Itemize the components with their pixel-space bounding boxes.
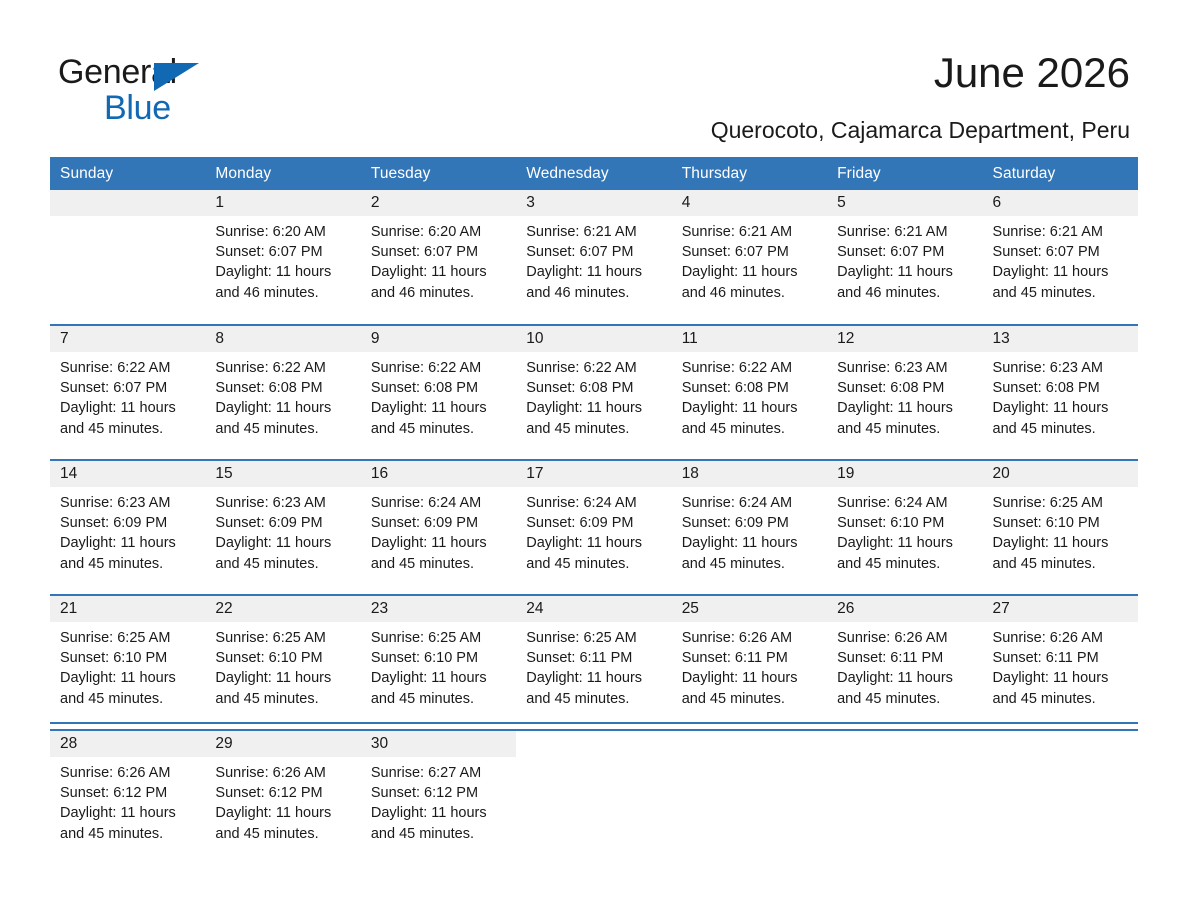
sunrise-text: Sunrise: 6:23 AM [837,358,974,378]
day-details: Sunrise: 6:24 AMSunset: 6:09 PMDaylight:… [672,487,827,574]
calendar-day-cell[interactable]: 13Sunrise: 6:23 AMSunset: 6:08 PMDayligh… [983,326,1138,459]
daylight-text: Daylight: 11 hours and 45 minutes. [371,533,508,573]
daylight-text: Daylight: 11 hours and 45 minutes. [993,398,1130,438]
sunset-text: Sunset: 6:08 PM [526,378,663,398]
day-number: 11 [672,326,827,352]
calendar-day-cell[interactable]: 21Sunrise: 6:25 AMSunset: 6:10 PMDayligh… [50,596,205,729]
daylight-text: Daylight: 11 hours and 45 minutes. [60,533,197,573]
sunrise-text: Sunrise: 6:22 AM [60,358,197,378]
sunrise-text: Sunrise: 6:21 AM [682,222,819,242]
logo-text-blue: Blue [104,88,171,128]
sunset-text: Sunset: 6:11 PM [837,648,974,668]
daylight-text: Daylight: 11 hours and 46 minutes. [837,262,974,302]
sunrise-text: Sunrise: 6:26 AM [682,628,819,648]
calendar-page: General Blue June 2026 Querocoto, Cajama… [0,0,1188,918]
day-details: Sunrise: 6:27 AMSunset: 6:12 PMDaylight:… [361,757,516,844]
daylight-text: Daylight: 11 hours and 45 minutes. [371,668,508,708]
daylight-text: Daylight: 11 hours and 45 minutes. [993,533,1130,573]
day-details: Sunrise: 6:26 AMSunset: 6:12 PMDaylight:… [205,757,360,844]
calendar-bottom-rule [50,722,1138,724]
sunset-text: Sunset: 6:07 PM [682,242,819,262]
day-details: Sunrise: 6:25 AMSunset: 6:10 PMDaylight:… [361,622,516,709]
daylight-text: Daylight: 11 hours and 45 minutes. [215,668,352,708]
calendar-day-cell[interactable]: 15Sunrise: 6:23 AMSunset: 6:09 PMDayligh… [205,461,360,594]
page-title: June 2026 [934,48,1130,98]
day-number: 26 [827,596,982,622]
sunset-text: Sunset: 6:08 PM [371,378,508,398]
day-details: Sunrise: 6:23 AMSunset: 6:09 PMDaylight:… [50,487,205,574]
daylight-text: Daylight: 11 hours and 46 minutes. [526,262,663,302]
sunrise-text: Sunrise: 6:25 AM [371,628,508,648]
calendar-day-cell[interactable]: 3Sunrise: 6:21 AMSunset: 6:07 PMDaylight… [516,190,671,324]
daylight-text: Daylight: 11 hours and 45 minutes. [215,398,352,438]
sunset-text: Sunset: 6:09 PM [60,513,197,533]
daylight-text: Daylight: 11 hours and 45 minutes. [993,262,1130,302]
calendar-day-cell-empty [827,731,982,865]
sunrise-text: Sunrise: 6:22 AM [371,358,508,378]
calendar-day-cell[interactable]: 8Sunrise: 6:22 AMSunset: 6:08 PMDaylight… [205,326,360,459]
sunrise-text: Sunrise: 6:20 AM [215,222,352,242]
day-number: 13 [983,326,1138,352]
sunset-text: Sunset: 6:10 PM [993,513,1130,533]
sunset-text: Sunset: 6:12 PM [215,783,352,803]
sunset-text: Sunset: 6:11 PM [682,648,819,668]
sunrise-text: Sunrise: 6:21 AM [993,222,1130,242]
daylight-text: Daylight: 11 hours and 46 minutes. [682,262,819,302]
day-number [672,731,827,757]
day-details: Sunrise: 6:24 AMSunset: 6:09 PMDaylight:… [516,487,671,574]
sunrise-text: Sunrise: 6:26 AM [60,763,197,783]
sunset-text: Sunset: 6:08 PM [682,378,819,398]
day-number: 2 [361,190,516,216]
sunset-text: Sunset: 6:12 PM [60,783,197,803]
sunset-text: Sunset: 6:12 PM [371,783,508,803]
day-number: 14 [50,461,205,487]
sunrise-text: Sunrise: 6:24 AM [371,493,508,513]
daylight-text: Daylight: 11 hours and 45 minutes. [60,803,197,843]
weekday-header-friday: Friday [827,157,982,190]
day-details: Sunrise: 6:20 AMSunset: 6:07 PMDaylight:… [205,216,360,303]
day-details: Sunrise: 6:21 AMSunset: 6:07 PMDaylight:… [516,216,671,303]
calendar-day-cell[interactable]: 20Sunrise: 6:25 AMSunset: 6:10 PMDayligh… [983,461,1138,594]
sunrise-text: Sunrise: 6:25 AM [526,628,663,648]
sunrise-text: Sunrise: 6:24 AM [837,493,974,513]
day-details: Sunrise: 6:25 AMSunset: 6:10 PMDaylight:… [983,487,1138,574]
sunrise-text: Sunrise: 6:25 AM [215,628,352,648]
day-number [50,190,205,216]
day-number: 1 [205,190,360,216]
daylight-text: Daylight: 11 hours and 45 minutes. [682,533,819,573]
sunset-text: Sunset: 6:07 PM [215,242,352,262]
calendar-day-cell-empty [50,190,205,324]
weekday-header-tuesday: Tuesday [361,157,516,190]
day-number: 24 [516,596,671,622]
sunrise-text: Sunrise: 6:23 AM [215,493,352,513]
day-number: 28 [50,731,205,757]
day-details: Sunrise: 6:26 AMSunset: 6:11 PMDaylight:… [983,622,1138,709]
calendar-body: 1Sunrise: 6:20 AMSunset: 6:07 PMDaylight… [50,190,1138,865]
calendar-day-cell[interactable]: 27Sunrise: 6:26 AMSunset: 6:11 PMDayligh… [983,596,1138,729]
daylight-text: Daylight: 11 hours and 45 minutes. [993,668,1130,708]
location-subtitle: Querocoto, Cajamarca Department, Peru [711,116,1130,144]
sunrise-text: Sunrise: 6:23 AM [60,493,197,513]
sunset-text: Sunset: 6:10 PM [60,648,197,668]
day-details: Sunrise: 6:22 AMSunset: 6:08 PMDaylight:… [672,352,827,439]
day-number: 16 [361,461,516,487]
sunset-text: Sunset: 6:07 PM [60,378,197,398]
day-details: Sunrise: 6:26 AMSunset: 6:11 PMDaylight:… [827,622,982,709]
sunrise-text: Sunrise: 6:24 AM [526,493,663,513]
calendar-week-row: 28Sunrise: 6:26 AMSunset: 6:12 PMDayligh… [50,730,1138,865]
daylight-text: Daylight: 11 hours and 45 minutes. [60,398,197,438]
daylight-text: Daylight: 11 hours and 45 minutes. [837,398,974,438]
day-number [516,731,671,757]
calendar-day-cell-empty [983,731,1138,865]
day-number: 8 [205,326,360,352]
sunrise-text: Sunrise: 6:20 AM [371,222,508,242]
daylight-text: Daylight: 11 hours and 45 minutes. [215,803,352,843]
daylight-text: Daylight: 11 hours and 46 minutes. [215,262,352,302]
sunrise-text: Sunrise: 6:23 AM [993,358,1130,378]
day-details: Sunrise: 6:21 AMSunset: 6:07 PMDaylight:… [983,216,1138,303]
day-details: Sunrise: 6:25 AMSunset: 6:10 PMDaylight:… [205,622,360,709]
sunrise-text: Sunrise: 6:25 AM [60,628,197,648]
calendar-day-cell[interactable]: 6Sunrise: 6:21 AMSunset: 6:07 PMDaylight… [983,190,1138,324]
calendar-day-cell[interactable]: 7Sunrise: 6:22 AMSunset: 6:07 PMDaylight… [50,326,205,459]
sunset-text: Sunset: 6:09 PM [215,513,352,533]
calendar-day-cell[interactable]: 14Sunrise: 6:23 AMSunset: 6:09 PMDayligh… [50,461,205,594]
calendar-day-cell[interactable]: 18Sunrise: 6:24 AMSunset: 6:09 PMDayligh… [672,461,827,594]
day-details: Sunrise: 6:20 AMSunset: 6:07 PMDaylight:… [361,216,516,303]
sunset-text: Sunset: 6:09 PM [526,513,663,533]
weekday-header-monday: Monday [205,157,360,190]
sunset-text: Sunset: 6:07 PM [993,242,1130,262]
daylight-text: Daylight: 11 hours and 45 minutes. [371,803,508,843]
page-header: General Blue June 2026 Querocoto, Cajama… [0,0,1188,152]
sunset-text: Sunset: 6:08 PM [837,378,974,398]
daylight-text: Daylight: 11 hours and 45 minutes. [371,398,508,438]
calendar-day-cell[interactable]: 30Sunrise: 6:27 AMSunset: 6:12 PMDayligh… [361,731,516,865]
daylight-text: Daylight: 11 hours and 45 minutes. [526,398,663,438]
sunset-text: Sunset: 6:10 PM [837,513,974,533]
calendar-day-cell[interactable]: 26Sunrise: 6:26 AMSunset: 6:11 PMDayligh… [827,596,982,729]
sunset-text: Sunset: 6:08 PM [993,378,1130,398]
day-number: 7 [50,326,205,352]
day-details: Sunrise: 6:26 AMSunset: 6:11 PMDaylight:… [672,622,827,709]
sunrise-text: Sunrise: 6:22 AM [215,358,352,378]
daylight-text: Daylight: 11 hours and 45 minutes. [215,533,352,573]
sunrise-text: Sunrise: 6:21 AM [526,222,663,242]
sunset-text: Sunset: 6:10 PM [371,648,508,668]
day-number: 17 [516,461,671,487]
daylight-text: Daylight: 11 hours and 45 minutes. [682,398,819,438]
weekday-header-wednesday: Wednesday [516,157,671,190]
calendar-day-cell[interactable]: 23Sunrise: 6:25 AMSunset: 6:10 PMDayligh… [361,596,516,729]
daylight-text: Daylight: 11 hours and 45 minutes. [526,533,663,573]
weekday-header-sunday: Sunday [50,157,205,190]
generalblue-logo[interactable]: General Blue [58,52,288,128]
calendar-day-cell[interactable]: 24Sunrise: 6:25 AMSunset: 6:11 PMDayligh… [516,596,671,729]
sunrise-text: Sunrise: 6:26 AM [215,763,352,783]
sunrise-text: Sunrise: 6:26 AM [837,628,974,648]
daylight-text: Daylight: 11 hours and 46 minutes. [371,262,508,302]
day-details: Sunrise: 6:25 AMSunset: 6:10 PMDaylight:… [50,622,205,709]
calendar-week-row: 21Sunrise: 6:25 AMSunset: 6:10 PMDayligh… [50,595,1138,730]
day-number: 30 [361,731,516,757]
calendar-week-row: 1Sunrise: 6:20 AMSunset: 6:07 PMDaylight… [50,190,1138,325]
sunrise-text: Sunrise: 6:26 AM [993,628,1130,648]
daylight-text: Daylight: 11 hours and 45 minutes. [526,668,663,708]
calendar-week-row: 7Sunrise: 6:22 AMSunset: 6:07 PMDaylight… [50,325,1138,460]
sunset-text: Sunset: 6:08 PM [215,378,352,398]
day-details: Sunrise: 6:25 AMSunset: 6:11 PMDaylight:… [516,622,671,709]
day-number: 27 [983,596,1138,622]
day-details: Sunrise: 6:22 AMSunset: 6:08 PMDaylight:… [516,352,671,439]
day-details: Sunrise: 6:24 AMSunset: 6:10 PMDaylight:… [827,487,982,574]
day-number: 19 [827,461,982,487]
day-number: 20 [983,461,1138,487]
sunrise-text: Sunrise: 6:24 AM [682,493,819,513]
sunrise-text: Sunrise: 6:22 AM [682,358,819,378]
sunset-text: Sunset: 6:07 PM [837,242,974,262]
calendar-day-cell[interactable]: 1Sunrise: 6:20 AMSunset: 6:07 PMDaylight… [205,190,360,324]
calendar-day-cell[interactable]: 2Sunrise: 6:20 AMSunset: 6:07 PMDaylight… [361,190,516,324]
sunrise-text: Sunrise: 6:27 AM [371,763,508,783]
day-number: 29 [205,731,360,757]
day-number: 9 [361,326,516,352]
day-number: 18 [672,461,827,487]
day-number: 4 [672,190,827,216]
day-number: 23 [361,596,516,622]
sunset-text: Sunset: 6:09 PM [371,513,508,533]
calendar-day-cell[interactable]: 16Sunrise: 6:24 AMSunset: 6:09 PMDayligh… [361,461,516,594]
day-details: Sunrise: 6:22 AMSunset: 6:08 PMDaylight:… [361,352,516,439]
day-details: Sunrise: 6:22 AMSunset: 6:08 PMDaylight:… [205,352,360,439]
day-number: 12 [827,326,982,352]
sunset-text: Sunset: 6:10 PM [215,648,352,668]
day-details: Sunrise: 6:24 AMSunset: 6:09 PMDaylight:… [361,487,516,574]
daylight-text: Daylight: 11 hours and 45 minutes. [60,668,197,708]
calendar-week-row: 14Sunrise: 6:23 AMSunset: 6:09 PMDayligh… [50,460,1138,595]
day-details: Sunrise: 6:23 AMSunset: 6:08 PMDaylight:… [983,352,1138,439]
day-number: 22 [205,596,360,622]
calendar-day-cell[interactable]: 22Sunrise: 6:25 AMSunset: 6:10 PMDayligh… [205,596,360,729]
calendar-day-cell[interactable]: 11Sunrise: 6:22 AMSunset: 6:08 PMDayligh… [672,326,827,459]
calendar-day-cell[interactable]: 19Sunrise: 6:24 AMSunset: 6:10 PMDayligh… [827,461,982,594]
day-number: 21 [50,596,205,622]
calendar-header-row: Sunday Monday Tuesday Wednesday Thursday… [50,157,1138,190]
calendar-day-cell-empty [516,731,671,865]
daylight-text: Daylight: 11 hours and 45 minutes. [837,668,974,708]
sunrise-text: Sunrise: 6:21 AM [837,222,974,242]
calendar-day-cell[interactable]: 9Sunrise: 6:22 AMSunset: 6:08 PMDaylight… [361,326,516,459]
calendar-day-cell[interactable]: 29Sunrise: 6:26 AMSunset: 6:12 PMDayligh… [205,731,360,865]
sunset-text: Sunset: 6:09 PM [682,513,819,533]
sunset-text: Sunset: 6:11 PM [993,648,1130,668]
calendar-day-cell[interactable]: 10Sunrise: 6:22 AMSunset: 6:08 PMDayligh… [516,326,671,459]
daylight-text: Daylight: 11 hours and 45 minutes. [682,668,819,708]
logo-triangle-icon [154,63,199,91]
sunrise-text: Sunrise: 6:25 AM [993,493,1130,513]
day-number: 5 [827,190,982,216]
day-number: 15 [205,461,360,487]
day-details: Sunrise: 6:21 AMSunset: 6:07 PMDaylight:… [672,216,827,303]
weekday-header-thursday: Thursday [672,157,827,190]
day-details: Sunrise: 6:22 AMSunset: 6:07 PMDaylight:… [50,352,205,439]
weekday-header-saturday: Saturday [983,157,1138,190]
calendar-day-cell-empty [672,731,827,865]
calendar-day-cell[interactable]: 12Sunrise: 6:23 AMSunset: 6:08 PMDayligh… [827,326,982,459]
sunrise-text: Sunrise: 6:22 AM [526,358,663,378]
daylight-text: Daylight: 11 hours and 45 minutes. [837,533,974,573]
sunset-text: Sunset: 6:07 PM [526,242,663,262]
day-number [827,731,982,757]
day-details: Sunrise: 6:23 AMSunset: 6:08 PMDaylight:… [827,352,982,439]
calendar-day-cell[interactable]: 28Sunrise: 6:26 AMSunset: 6:12 PMDayligh… [50,731,205,865]
sunset-text: Sunset: 6:11 PM [526,648,663,668]
sunset-text: Sunset: 6:07 PM [371,242,508,262]
calendar-day-cell[interactable]: 5Sunrise: 6:21 AMSunset: 6:07 PMDaylight… [827,190,982,324]
day-number [983,731,1138,757]
day-number: 6 [983,190,1138,216]
calendar-day-cell[interactable]: 17Sunrise: 6:24 AMSunset: 6:09 PMDayligh… [516,461,671,594]
calendar-table: Sunday Monday Tuesday Wednesday Thursday… [50,157,1138,865]
day-number: 25 [672,596,827,622]
calendar-day-cell[interactable]: 4Sunrise: 6:21 AMSunset: 6:07 PMDaylight… [672,190,827,324]
day-number: 10 [516,326,671,352]
calendar-day-cell[interactable]: 25Sunrise: 6:26 AMSunset: 6:11 PMDayligh… [672,596,827,729]
day-details: Sunrise: 6:26 AMSunset: 6:12 PMDaylight:… [50,757,205,844]
day-details: Sunrise: 6:23 AMSunset: 6:09 PMDaylight:… [205,487,360,574]
day-number: 3 [516,190,671,216]
day-details: Sunrise: 6:21 AMSunset: 6:07 PMDaylight:… [827,216,982,303]
